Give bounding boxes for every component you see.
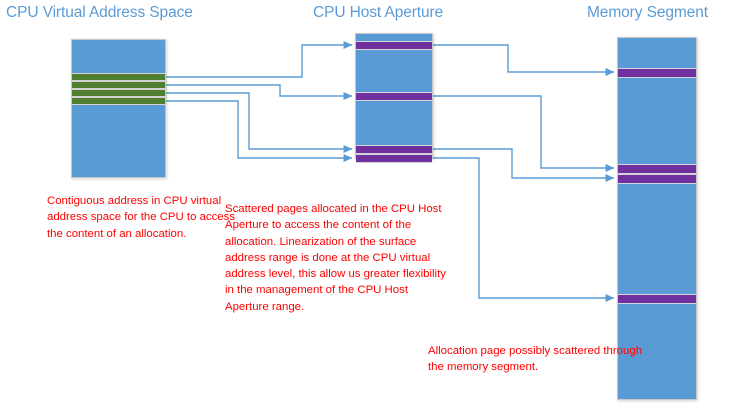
annotation-cpu-host-aperture: Scattered pages allocated in the CPU Hos… xyxy=(225,201,450,315)
annotation-memory-segment: Allocation page possibly scattered throu… xyxy=(428,343,643,376)
connector-aperture1-to-memory1 xyxy=(433,45,614,72)
box-cpu-host-aperture xyxy=(355,33,433,159)
connector-aperture3-to-memory3 xyxy=(433,149,614,178)
aperture-page-2 xyxy=(356,92,432,101)
vas-page-1 xyxy=(72,73,165,81)
aperture-page-4 xyxy=(356,154,432,163)
memory-page-4 xyxy=(618,294,696,304)
connector-vas2-to-aperture2 xyxy=(166,85,352,96)
aperture-page-3 xyxy=(356,145,432,154)
vas-page-3 xyxy=(72,89,165,97)
vas-page-4 xyxy=(72,97,165,105)
connector-vas1-to-aperture1 xyxy=(166,45,352,77)
vas-page-2 xyxy=(72,81,165,89)
box-cpu-virtual-address-space xyxy=(71,39,166,178)
connector-aperture4-to-memory4 xyxy=(433,158,614,298)
aperture-page-1 xyxy=(356,41,432,50)
memory-page-3 xyxy=(618,174,696,184)
memory-page-1 xyxy=(618,68,696,78)
memory-page-2 xyxy=(618,164,696,174)
connector-aperture2-to-memory2 xyxy=(433,96,614,168)
annotation-cpu-virtual-address-space: Contiguous address in CPU virtual addres… xyxy=(47,193,237,242)
